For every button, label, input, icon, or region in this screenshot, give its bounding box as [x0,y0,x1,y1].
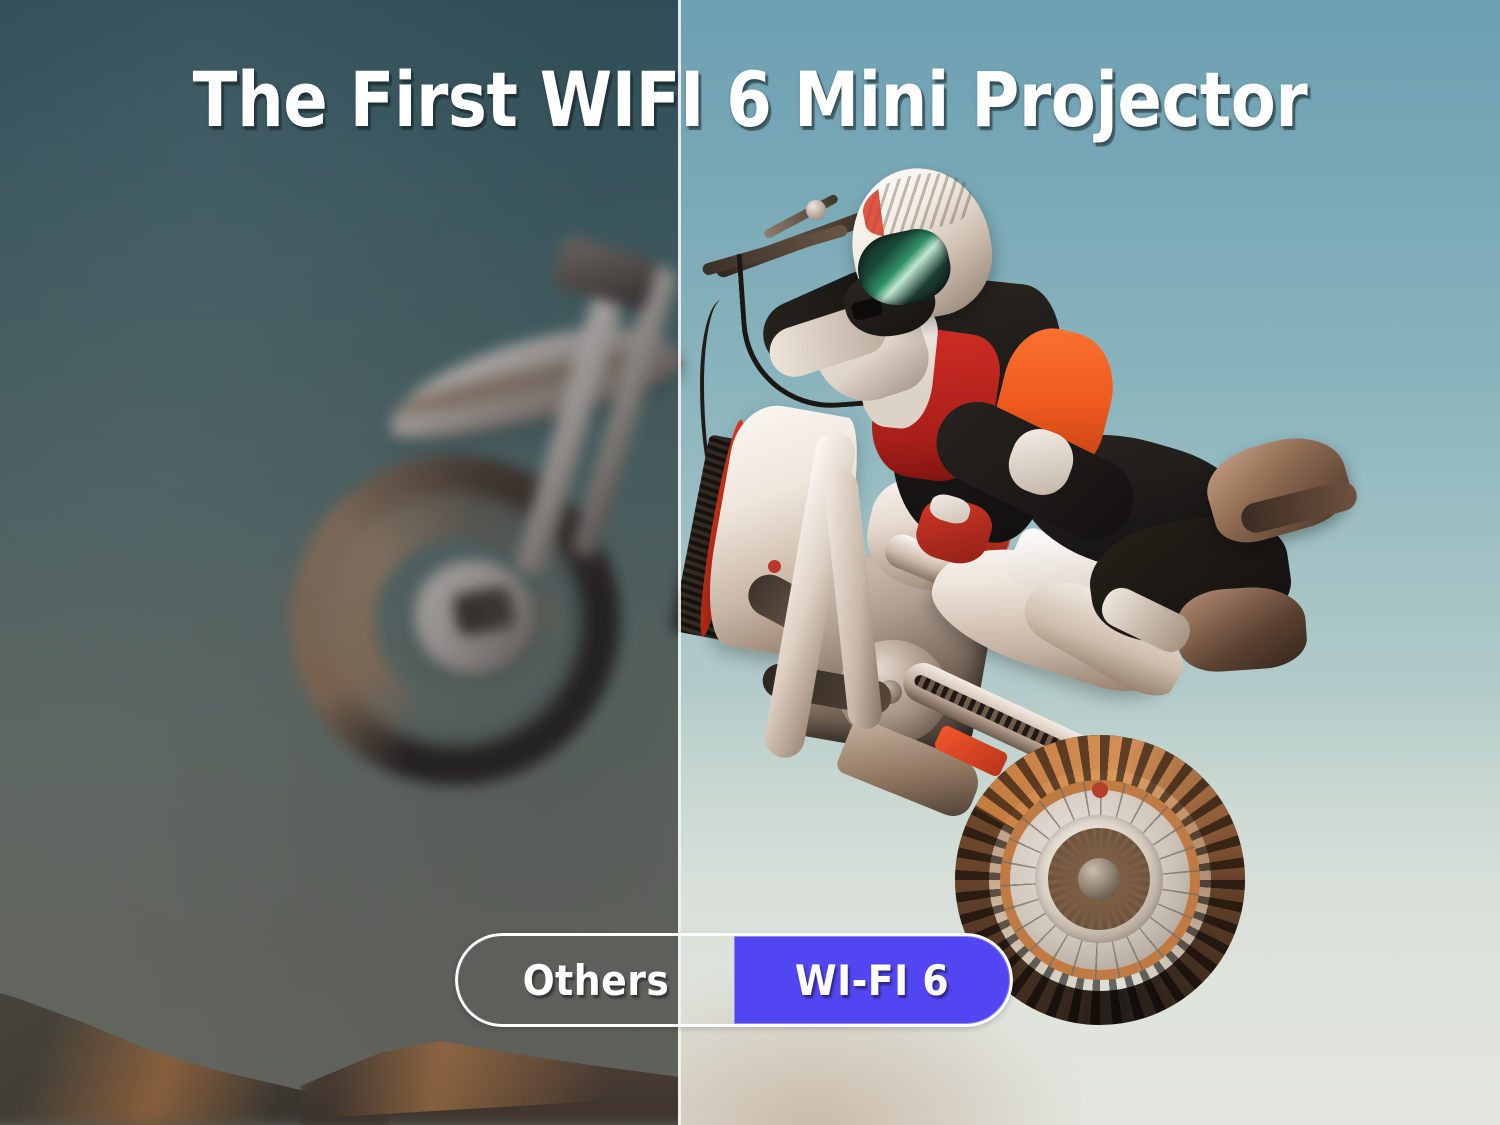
page-title: The First WIFI 6 Mini Projector [30,62,1470,138]
triple-clamp-blurred [550,234,659,313]
rear-hub [1078,858,1120,900]
bar-end-cap [806,200,826,220]
rim-lock-bolt [1092,782,1108,798]
toggle-option-wifi6[interactable]: WI-FI 6 [734,933,1013,1027]
comparison-toggle[interactable]: Others WI-FI 6 [455,933,1013,1027]
shroud-fastener [768,560,781,573]
product-banner: The First WIFI 6 Mini Projector Others W… [0,0,1500,1125]
toggle-option-others[interactable]: Others [455,933,734,1027]
boot-second [1175,584,1308,675]
